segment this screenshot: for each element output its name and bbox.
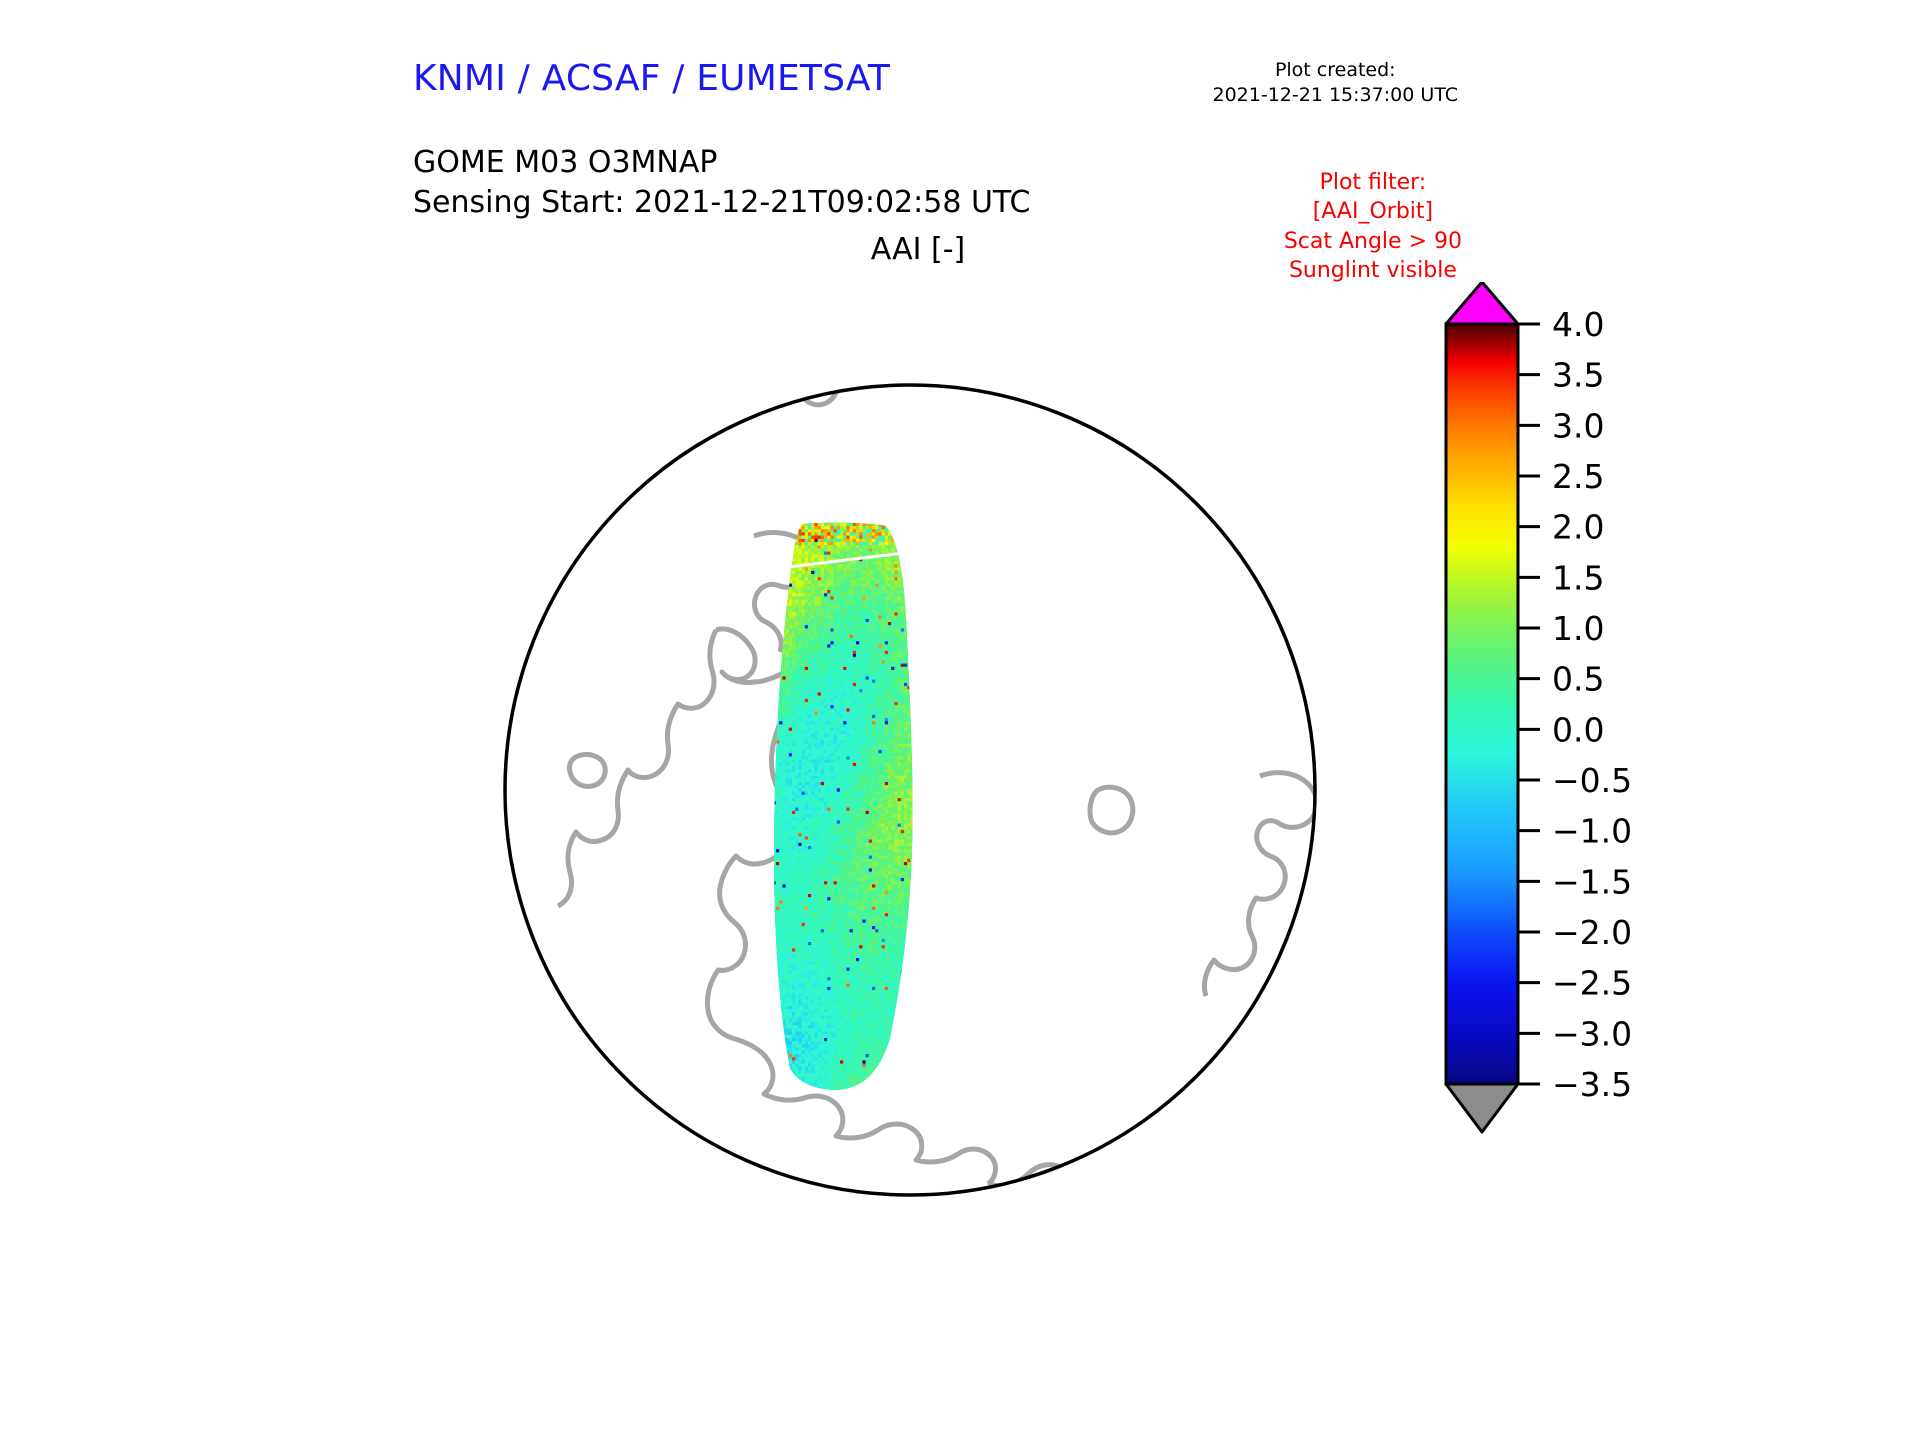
colorbar-tick-label: 1.0	[1552, 609, 1604, 648]
colorbar-ticks: 4.03.53.02.52.01.51.00.50.0−0.5−1.0−1.5−…	[1518, 305, 1632, 1104]
colorbar-tick-label: −2.5	[1552, 964, 1632, 1003]
page-title: AAI [-]	[413, 232, 1423, 267]
triangle-down-icon	[1446, 1084, 1518, 1132]
colorbar-panel[interactable]: 4.03.53.02.52.01.51.00.50.0−0.5−1.0−1.5−…	[1440, 282, 1760, 1302]
coastline-tiny-island	[450, 784, 476, 808]
colorbar-tick-label: 3.5	[1552, 356, 1604, 395]
colorbar-tick-label: −3.0	[1552, 1014, 1632, 1053]
colorbar-tick-label: 0.0	[1552, 710, 1604, 749]
triangle-up-icon	[1446, 282, 1518, 324]
map-panel[interactable]	[398, 278, 1422, 1302]
colorbar-tick-label: 2.5	[1552, 457, 1604, 496]
filter-line-2: Scat Angle > 90	[1284, 227, 1462, 256]
sensing-start-line: Sensing Start: 2021-12-21T09:02:58 UTC	[413, 183, 1030, 223]
plot-created-timestamp: 2021-12-21 15:37:00 UTC	[1213, 83, 1459, 108]
colorbar-tick-label: 3.0	[1552, 406, 1604, 445]
colorbar-tick-label: 0.5	[1552, 660, 1604, 699]
title-block: GOME M03 O3MNAP Sensing Start: 2021-12-2…	[413, 143, 1030, 223]
plot-created-label: Plot created:	[1213, 58, 1459, 83]
colorbar-tick-label: 4.0	[1552, 305, 1604, 344]
filter-line-0: Plot filter:	[1284, 168, 1462, 197]
colorbar-tick-label: −1.5	[1552, 862, 1632, 901]
plot-created-block: Plot created: 2021-12-21 15:37:00 UTC	[1213, 58, 1459, 108]
colorbar-tick-label: −1.0	[1552, 812, 1632, 851]
colorbar-tick-label: −3.5	[1552, 1065, 1632, 1104]
colorbar-tick-label: −0.5	[1552, 761, 1632, 800]
colorbar-gradient	[1446, 324, 1518, 1084]
colorbar-tick-label: 1.5	[1552, 558, 1604, 597]
coastline-narrow-land	[793, 291, 840, 405]
colorbar-tick-label: 2.0	[1552, 508, 1604, 547]
brand-title: KNMI / ACSAF / EUMETSAT	[413, 58, 890, 99]
filter-line-1: [AAI_Orbit]	[1284, 197, 1462, 226]
coastline-small-island-a	[645, 393, 685, 431]
instrument-line: GOME M03 O3MNAP	[413, 143, 1030, 183]
colorbar-tick-label: −2.0	[1552, 913, 1632, 952]
plot-filter-block: Plot filter: [AAI_Orbit] Scat Angle > 90…	[1284, 168, 1462, 285]
